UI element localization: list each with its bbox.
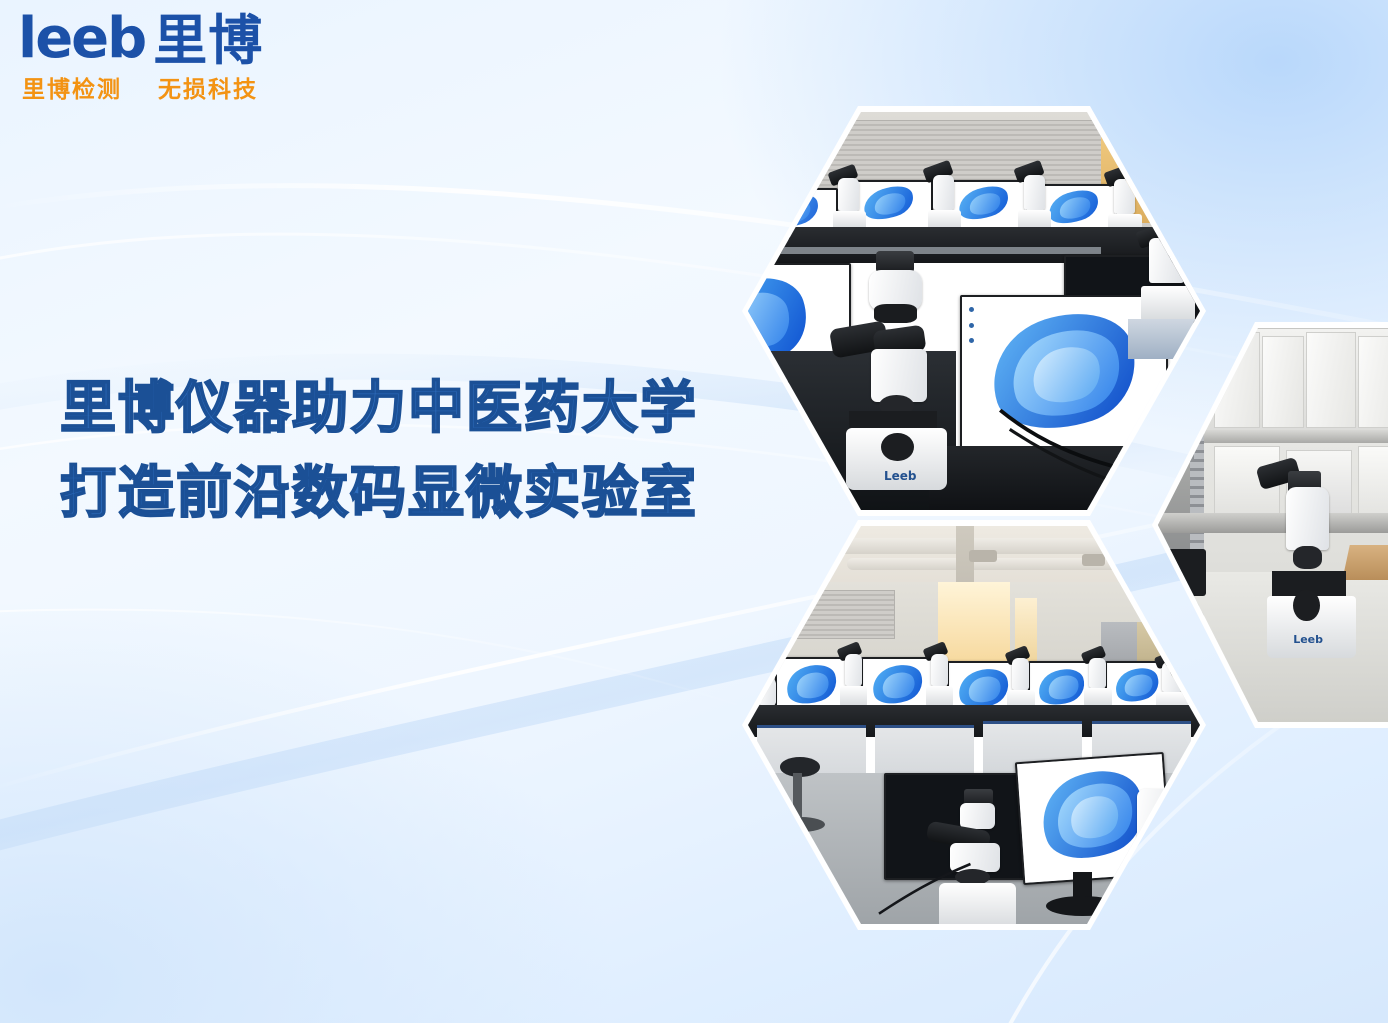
carton (1358, 336, 1388, 429)
camera-adapter (874, 304, 917, 323)
floor-cable (875, 860, 974, 924)
instrument-brand-label: Leeb (884, 469, 917, 483)
logo-tagline-left: 里博检测 (22, 77, 122, 103)
photo-hex-bottom (748, 526, 1200, 924)
stage (849, 411, 938, 428)
wall-right (1155, 112, 1200, 231)
microscope-foreground-right (1128, 781, 1200, 916)
duct-joint (969, 550, 996, 562)
promotional-banner: leeb 里博 里博检测 无损科技 里博仪器助力中医药大学 打造前沿数码显微实验… (0, 0, 1388, 1023)
digital-microscopy-classroom-front-scene: Leeb (748, 112, 1200, 510)
monitor-base (1046, 896, 1118, 916)
logo-latin-text: leeb (18, 12, 145, 66)
carton (1306, 332, 1356, 429)
carton (1262, 336, 1304, 429)
microscope-head (960, 803, 995, 829)
logo-wordmark: leeb 里博 (18, 12, 318, 66)
focus-knob (1293, 590, 1319, 621)
microscope-assembly-warehouse-scene: Leeb Leeb (1158, 328, 1388, 722)
wall-vent-panel (775, 590, 895, 640)
headline-block: 里博仪器助力中医药大学 打造前沿数码显微实验室 (60, 366, 760, 536)
microscope-row (1155, 653, 1191, 713)
photo-hex-top: Leeb (748, 112, 1200, 510)
microscope-right (1137, 223, 1200, 326)
nosepiece-turret (1293, 546, 1322, 569)
microscope-arm (871, 349, 927, 402)
microscope-back-row (1015, 164, 1056, 232)
microscope-base (1128, 846, 1199, 900)
logo-tagline-right: 无损科技 (158, 77, 258, 103)
digital-microscopy-classroom-wide-scene (748, 526, 1200, 924)
microscope-row (924, 645, 956, 709)
logo-tagline: 里博检测 无损科技 (22, 70, 318, 104)
dark-component (1158, 549, 1206, 596)
duct-joint (1082, 554, 1105, 566)
microscope-row (1006, 649, 1038, 713)
microscope-arm (1286, 487, 1329, 550)
headline-line-2: 打造前沿数码显微实验室 (60, 451, 760, 536)
photo-hex-right: Leeb Leeb (1158, 328, 1388, 722)
instrument-brand-label: Leeb (1293, 633, 1323, 646)
microscope-row (1082, 649, 1114, 709)
headline-line-1: 里博仪器助力中医药大学 (60, 366, 760, 451)
microscope-back-row (924, 164, 965, 232)
carton (1214, 332, 1260, 429)
microscope-row (838, 645, 870, 709)
microscope-foreground: Leeb (838, 251, 965, 490)
brand-logo[interactable]: leeb 里博 里博检测 无损科技 (18, 12, 318, 104)
microscope-back-row (829, 168, 870, 232)
microscope: Leeb (1262, 458, 1382, 667)
logo-chinese-text: 里博 (153, 15, 263, 67)
